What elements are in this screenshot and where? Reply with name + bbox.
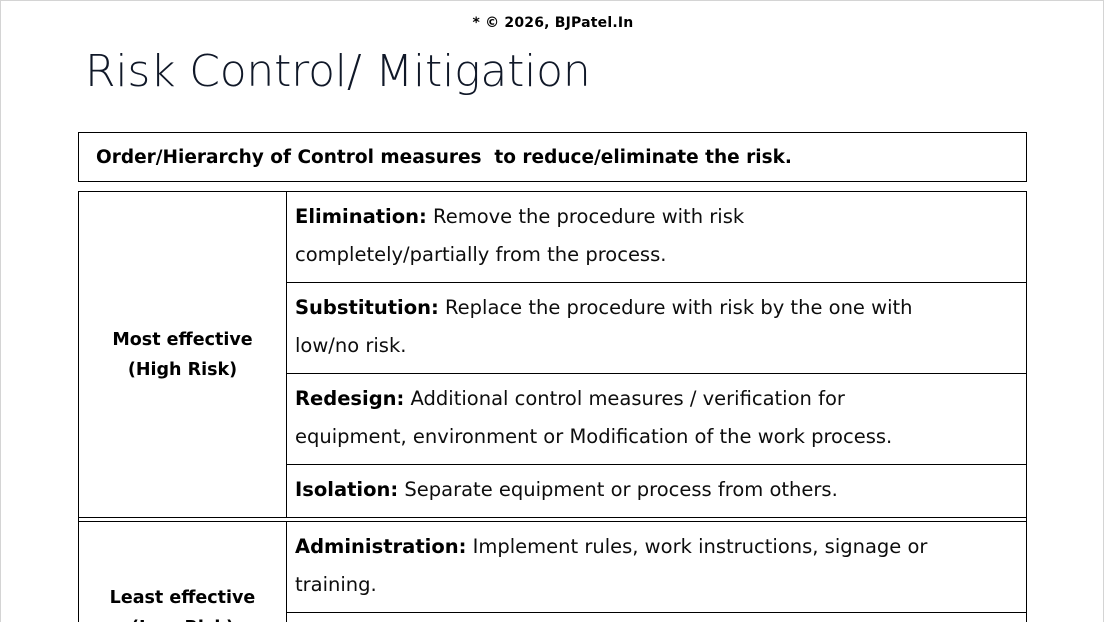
section-rows-most-effective: Elimination: Remove the procedure with r… [287,192,1026,517]
table-row: Administration: Implement rules, work in… [287,522,1026,613]
control-measure-desc-part1: Replace the procedure with risk by the o… [439,296,913,319]
section-label-line2: (Low Risk) [131,613,234,622]
section-label-line2: (High Risk) [128,355,237,385]
slide-page: * © 2026, BJPatel.In Risk Control/ Mitig… [0,0,1104,622]
control-measure-term: Substitution: [295,296,439,319]
section-label-least-effective: Least effective (Low Risk) [79,522,287,622]
control-measure-term: Redesign: [295,387,404,410]
control-measure-line2: training. [295,566,1026,604]
section-label-most-effective: Most effective (High Risk) [79,192,287,517]
control-measure-term: Isolation: [295,478,398,501]
section-rows-least-effective: Administration: Implement rules, work in… [287,522,1026,622]
control-hierarchy-table: Most effective (High Risk) Elimination: … [78,191,1027,622]
control-measure-line2: equipment, environment or Modification o… [295,418,1026,456]
control-measure-line2: completely/partially from the process. [295,236,1026,274]
control-measure-line1: Substitution: Replace the procedure with… [295,289,1026,327]
control-measure-term: Elimination: [295,205,427,228]
table-row: Isolation: Separate equipment or process… [287,465,1026,517]
table-row: Elimination: Remove the procedure with r… [287,192,1026,283]
control-measure-desc-part1: Remove the procedure with risk [427,205,744,228]
page-title: Risk Control/ Mitigation [85,45,591,99]
header-banner-text: Order/Hierarchy of Control measures to r… [79,147,792,168]
table-row: Substitution: Replace the procedure with… [287,283,1026,374]
control-measure-line1: Isolation: Separate equipment or process… [295,471,1026,509]
section-label-line1: Most effective [112,325,252,355]
control-measure-line1: Administration: Implement rules, work in… [295,528,1026,566]
control-measure-desc-part1: Separate equipment or process from other… [398,478,838,501]
control-measure-term: Administration: [295,535,466,558]
control-measure-desc-part1: Implement rules, work instructions, sign… [466,535,927,558]
table-row: Redesign: Additional control measures / … [287,374,1026,465]
copyright-notice: * © 2026, BJPatel.In [1,15,1104,31]
table-section-most-effective: Most effective (High Risk) Elimination: … [79,192,1026,518]
control-measure-line1: Elimination: Remove the procedure with r… [295,198,1026,236]
table-section-least-effective: Least effective (Low Risk) Administratio… [79,521,1026,622]
control-measure-line2: low/no risk. [295,327,1026,365]
header-banner: Order/Hierarchy of Control measures to r… [78,132,1027,182]
control-measure-line1: Redesign: Additional control measures / … [295,380,1026,418]
table-row: Personal Protective Equipment (PPE)/Cont… [287,613,1026,622]
control-measure-desc-part1: Additional control measures / verificati… [404,387,845,410]
section-label-line1: Least effective [110,583,256,613]
